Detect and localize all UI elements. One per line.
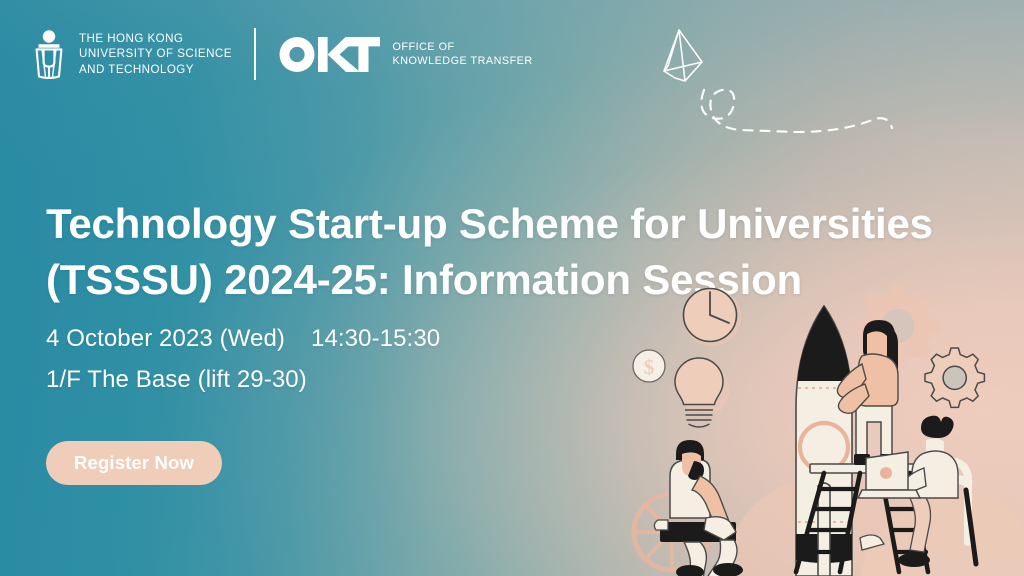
- event-venue: 1/F The Base (lift 29-30): [46, 359, 440, 400]
- okt-line-1: OFFICE OF: [393, 40, 533, 54]
- event-when: 4 October 2023 (Wed)14:30-15:30: [46, 318, 440, 359]
- logo-lockup: THE HONG KONG UNIVERSITY OF SCIENCE AND …: [30, 24, 533, 84]
- hkust-emblem-icon: [30, 29, 68, 79]
- event-details: 4 October 2023 (Wed)14:30-15:30 1/F The …: [46, 318, 440, 401]
- hkust-line-1: THE HONG KONG: [79, 31, 232, 46]
- event-banner: THE HONG KONG UNIVERSITY OF SCIENCE AND …: [0, 0, 1024, 576]
- hkust-line-2: UNIVERSITY OF SCIENCE: [79, 46, 232, 61]
- page-title: Technology Start-up Scheme for Universit…: [46, 196, 991, 308]
- event-time: 14:30-15:30: [311, 325, 440, 352]
- title-line-2: (TSSSU) 2024-25: Information Session: [46, 252, 991, 308]
- title-line-1: Technology Start-up Scheme for Universit…: [46, 196, 991, 252]
- register-now-button[interactable]: Register Now: [46, 441, 222, 485]
- okt-wordmark: OFFICE OF KNOWLEDGE TRANSFER: [393, 40, 533, 69]
- okt-line-2: KNOWLEDGE TRANSFER: [393, 54, 533, 68]
- hkust-line-3: AND TECHNOLOGY: [79, 62, 232, 77]
- hkust-wordmark: THE HONG KONG UNIVERSITY OF SCIENCE AND …: [79, 31, 232, 76]
- okt-acronym-logo: [276, 34, 380, 74]
- logo-divider: [254, 28, 256, 80]
- event-date: 4 October 2023 (Wed): [46, 325, 285, 352]
